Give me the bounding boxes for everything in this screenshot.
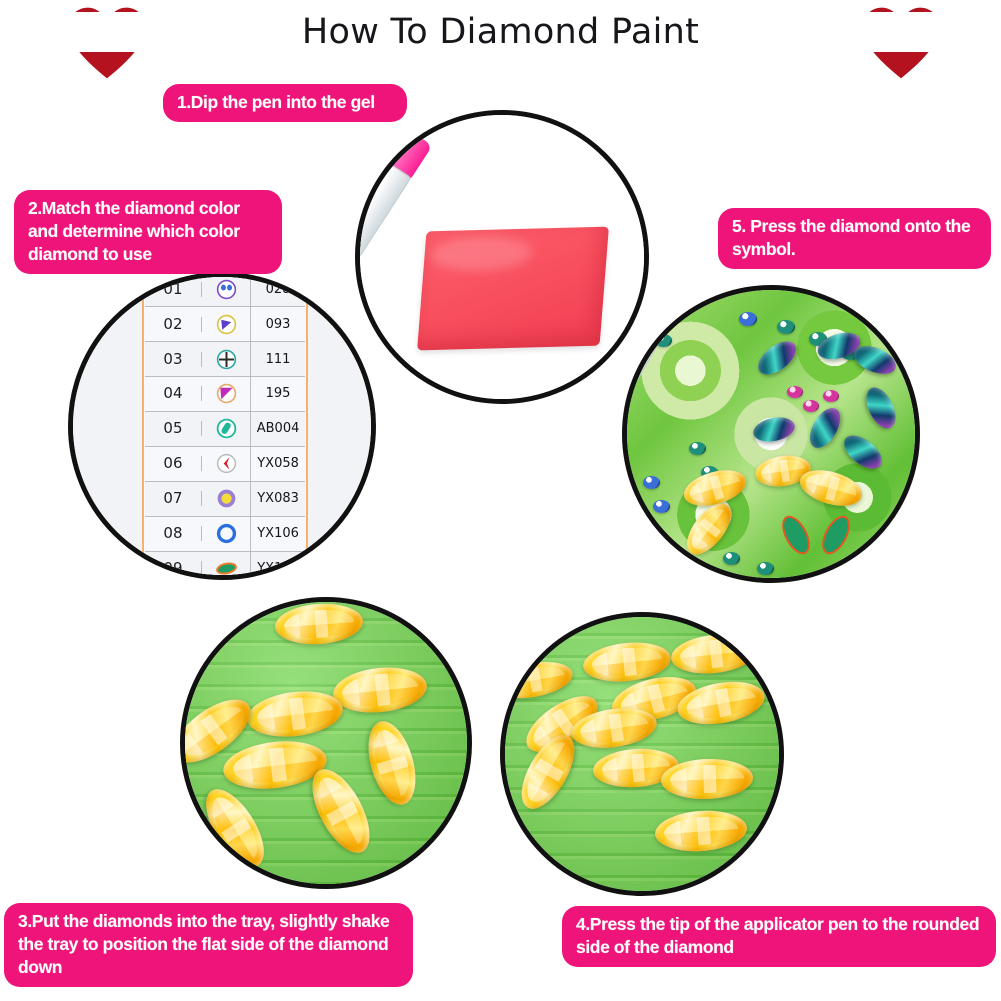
left-chevron-icon [202,447,250,481]
page-title-wrap: How To Diamond Paint [0,12,1001,52]
step-5-label: 5. Press the diamond onto the symbol. [718,208,991,269]
color-chart-number: 04 [145,386,203,401]
pen-pickup-scene [505,617,779,891]
canvas-symbol-dot [823,390,839,402]
filled-triangle-icon [202,307,250,341]
leaf-marquise-icon [202,552,250,580]
color-chart-code: 028 [251,283,306,296]
canvas-symbol-dot [723,552,740,565]
color-chart-row: 05AB004 [145,412,306,447]
color-chart-code: YX125 [251,562,306,575]
step-2-label: 2.Match the diamond color and determine … [14,190,282,274]
color-chart-number: 09 [145,561,203,576]
canvas-symbol-dot [653,500,670,513]
color-chart-scene: 0102802093031110419505AB00406YX05807YX08… [73,277,371,575]
color-chart-number: 05 [145,421,203,436]
color-chart-row: 07YX083 [145,482,306,517]
infographic-page: How To Diamond Paint 1.Dip the pen into … [0,0,1001,1001]
canvas-symbol-dot [643,476,660,489]
step-4-label: 4.Press the tip of the applicator pen to… [562,906,996,967]
color-chart-row: 06YX058 [145,447,306,482]
step-3-photo [180,597,472,889]
canvas-symbol-dot [689,442,706,455]
tray-diamonds-scene [185,602,467,884]
color-chart-row: 08YX106 [145,517,306,552]
step-4-photo [500,612,784,896]
canvas-symbol-dot [787,386,803,398]
color-chart-code: 111 [251,353,306,366]
color-chart-code: 093 [251,318,306,331]
canvas-symbol-dot [803,400,819,412]
plus-cross-icon [202,342,250,376]
slanted-capsule-icon [202,412,250,446]
canvas-symbol-dot [777,320,795,334]
step-5-photo [622,285,920,583]
step-1-photo [355,110,649,404]
step-1-label: 1.Dip the pen into the gel [163,84,407,122]
color-chart-code: YX106 [251,527,306,540]
two-blue-dots-icon [202,272,250,306]
color-chart-number: 01 [145,282,203,297]
step-3-label: 3.Put the diamonds into the tray, slight… [4,903,413,987]
gel-pad [418,226,610,350]
half-triangle-icon [202,377,250,411]
filled-circle-icon [202,482,250,516]
color-chart-row: 09YX125 [145,552,306,580]
ring-donut-icon [202,517,250,551]
color-chart-code: YX058 [251,457,306,470]
color-chart-row: 03111 [145,342,306,377]
color-chart-number: 08 [145,526,203,541]
canvas-symbol-dot [757,562,774,575]
canvas-press-scene [627,290,915,578]
color-chart-number: 07 [145,491,203,506]
color-chart-number: 03 [145,352,203,367]
page-header: How To Diamond Paint [0,0,1001,78]
color-chart-code: YX083 [251,492,306,505]
color-chart-code: 195 [251,387,306,400]
color-chart-number: 06 [145,456,203,471]
color-chart-row: 02093 [145,307,306,342]
gel-dip-scene [360,115,644,399]
color-chart-table: 0102802093031110419505AB00406YX05807YX08… [145,272,306,580]
canvas-symbol-dot [739,312,757,326]
color-chart-row: 01028 [145,272,306,307]
color-chart-code: AB004 [251,422,306,435]
color-chart-row: 04195 [145,377,306,412]
page-title: How To Diamond Paint [286,12,715,52]
color-chart-number: 02 [145,317,203,332]
step-2-photo: 0102802093031110419505AB00406YX05807YX08… [68,272,376,580]
